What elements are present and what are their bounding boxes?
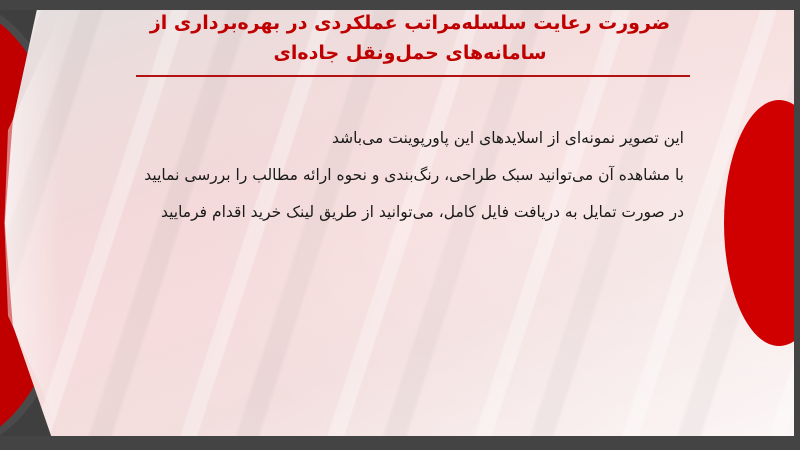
title-underline: [136, 75, 690, 77]
presentation-slide: ضرورت رعایت سلسله‌مراتب عملکردی در بهره‌…: [0, 0, 800, 450]
body-line-3: در صورت تمایل به دریافت فایل کامل، می‌تو…: [84, 194, 684, 231]
slide-title: ضرورت رعایت سلسله‌مراتب عملکردی در بهره‌…: [100, 8, 720, 68]
body-line-1: این تصویر نمونه‌ای از اسلایدهای این پاور…: [84, 120, 684, 157]
slide-title-line-1: ضرورت رعایت سلسله‌مراتب عملکردی در بهره‌…: [100, 8, 720, 38]
dark-frame-bottom: [0, 436, 800, 450]
dark-frame-right: [794, 0, 800, 450]
dark-frame-top: [0, 0, 800, 10]
slide-title-line-2: سامانه‌های حمل‌ونقل جاده‌ای: [100, 38, 720, 68]
body-line-2: با مشاهده آن می‌توانید سبک طراحی، رنگ‌بن…: [84, 157, 684, 194]
slide-body: این تصویر نمونه‌ای از اسلایدهای این پاور…: [84, 120, 684, 231]
